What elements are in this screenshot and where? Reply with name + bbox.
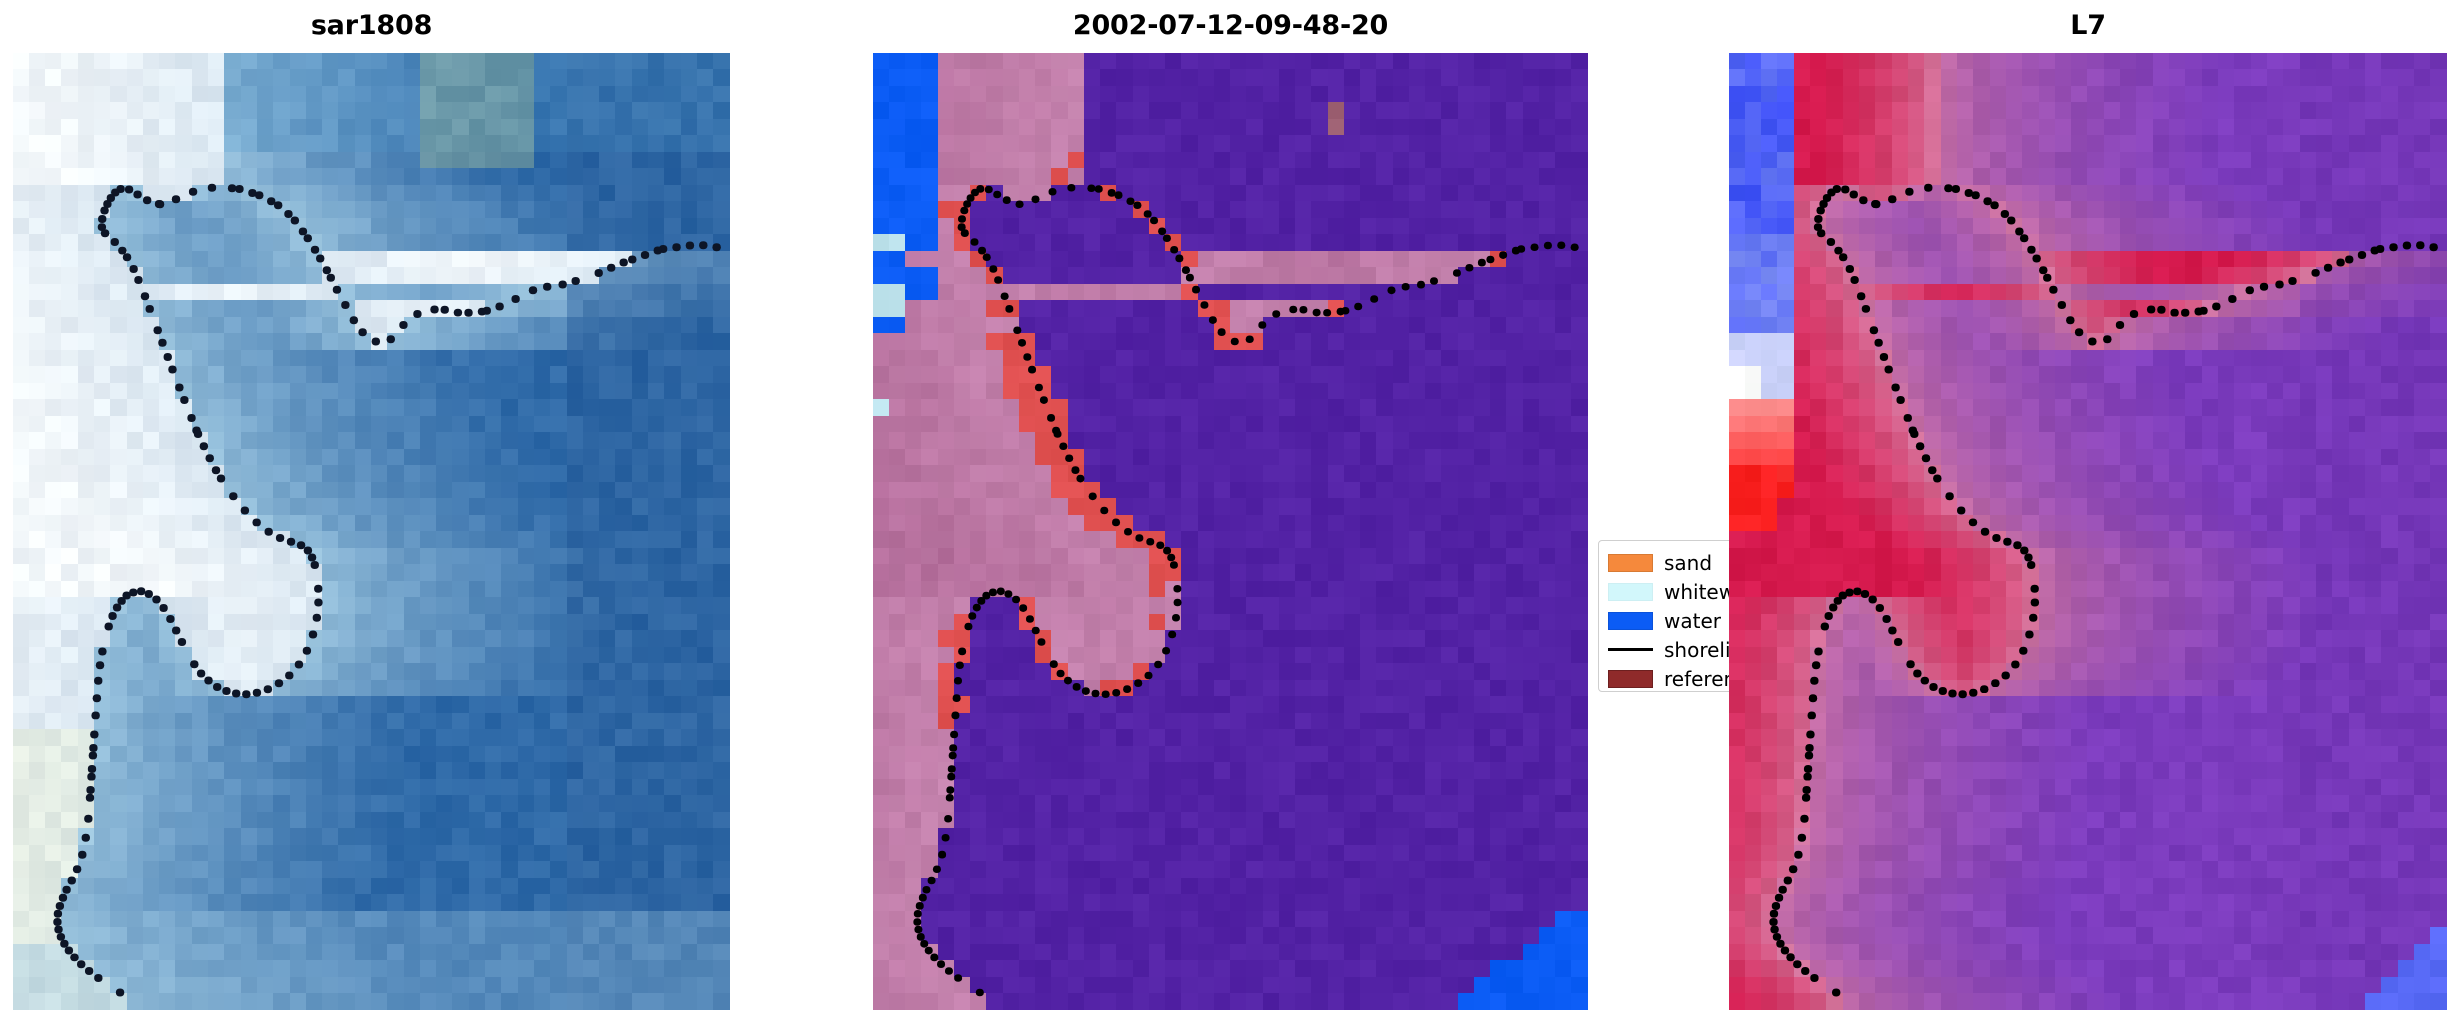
legend-label-whitewater: whitew (1664, 580, 1735, 604)
reference-swatch-icon (1608, 670, 1653, 688)
panel-title-sar1808: sar1808 (13, 0, 730, 50)
legend-label-sand: sand (1664, 551, 1712, 575)
l7-false-color-image (1729, 53, 2447, 1010)
whitewater-swatch-icon (1608, 583, 1653, 601)
sand-swatch-icon (1608, 554, 1653, 572)
classified-image (873, 53, 1588, 1010)
legend-label-shoreline: shoreli (1664, 638, 1731, 662)
legend-label-water: water (1664, 609, 1721, 633)
water-swatch-icon (1608, 612, 1653, 630)
figure-root: sar1808 2002-07-12-09-48-20 sand whitew … (0, 0, 2460, 1027)
panel-title-classified: 2002-07-12-09-48-20 (873, 0, 1588, 50)
legend-label-reference: referen (1664, 667, 1736, 691)
panel-title-l7: L7 (1729, 0, 2447, 50)
sar-true-color-image (13, 53, 730, 1010)
shoreline-line-icon (1608, 648, 1653, 651)
